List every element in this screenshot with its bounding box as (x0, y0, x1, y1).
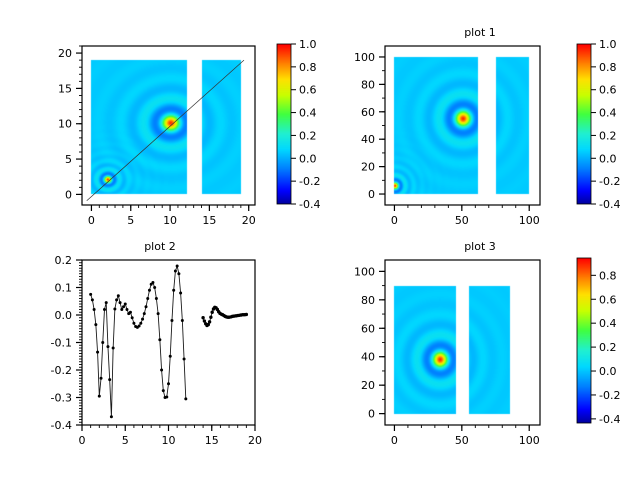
y-tick-label: 40 (361, 133, 375, 146)
data-point (146, 297, 149, 300)
colorbar-tick-label: -0.2 (299, 175, 320, 188)
data-point (96, 351, 99, 354)
data-point (124, 303, 127, 306)
y-tick-label: 0 (368, 408, 375, 421)
y-tick-label: 5 (65, 153, 72, 166)
colorbar-gradient (577, 44, 591, 204)
panel-top-right-colorbar: 1.00.80.60.40.20.0-0.2-0.4 (577, 38, 620, 211)
data-point (201, 316, 204, 319)
data-point (183, 358, 186, 361)
data-point (122, 305, 125, 308)
y-tick-label: 20 (361, 379, 375, 392)
x-tick-label: 50 (455, 214, 469, 227)
data-point (106, 345, 109, 348)
x-tick-label: 0 (88, 214, 95, 227)
panel-top-left: 0510152005101520 1.00.80.60.40.20.0-0.2-… (0, 0, 320, 240)
data-point (115, 298, 118, 301)
data-point (177, 272, 180, 275)
data-point (100, 377, 103, 380)
panel-top-left-heatmap (82, 46, 255, 205)
y-tick-label: 0 (65, 188, 72, 201)
colorbar-tick-label: 0.2 (599, 129, 617, 142)
panel-bottom-left-svg: 051015200.20.10.0-0.1-0.2-0.3-0.4 (0, 240, 320, 480)
colorbar-tick-label: 0.4 (599, 317, 617, 330)
colorbar-tick-label: 0.4 (599, 107, 617, 120)
data-point (125, 308, 128, 311)
colorbar-tick-label: -0.4 (599, 198, 620, 211)
data-point (145, 305, 148, 308)
colorbar-tick-label: -0.4 (599, 413, 620, 426)
x-tick-label: 10 (163, 214, 177, 227)
colorbar-tick-label: 0.8 (299, 61, 317, 74)
y-tick-label: 20 (361, 161, 375, 174)
data-point (167, 382, 170, 385)
x-tick-label: 10 (162, 434, 176, 447)
y-tick-label: 10 (58, 118, 72, 131)
colorbar-tick-label: 1.0 (299, 38, 317, 51)
colorbar-gradient (577, 258, 591, 423)
panel-bottom-left-title: plot 2 (0, 240, 320, 253)
x-tick-label: 100 (519, 434, 540, 447)
data-point (162, 389, 165, 392)
y-tick-label: 15 (58, 82, 72, 95)
panel-bottom-right-title: plot 3 (320, 240, 640, 253)
x-tick-label: 5 (127, 214, 134, 227)
x-tick-label: 5 (122, 434, 129, 447)
panel-top-left-colorbar: 1.00.80.60.40.20.0-0.2-0.4 (277, 38, 320, 211)
x-tick-label: 50 (455, 434, 469, 447)
x-tick-label: 20 (242, 214, 256, 227)
figure-canvas: 0510152005101520 1.00.80.60.40.20.0-0.2-… (0, 0, 640, 480)
colorbar-tick-label: 0.0 (299, 152, 317, 165)
y-tick-label: -0.2 (51, 364, 72, 377)
data-point (151, 281, 154, 284)
colorbar-tick-label: 0.4 (299, 107, 317, 120)
data-point (157, 312, 160, 315)
x-tick-label: 15 (202, 214, 216, 227)
y-tick-label: 20 (58, 47, 72, 60)
colorbar-tick-label: 0.2 (599, 341, 617, 354)
colorbar-tick-label: -0.2 (599, 389, 620, 402)
line-series (91, 266, 186, 417)
data-point (208, 320, 211, 323)
y-tick-label: 80 (361, 294, 375, 307)
data-point (110, 415, 113, 418)
x-tick-label: 0 (391, 214, 398, 227)
panel-bottom-left-series (89, 265, 248, 419)
colorbar-tick-label: 0.6 (299, 84, 317, 97)
data-point (165, 395, 168, 398)
data-point (181, 319, 184, 322)
heatmap-image (82, 46, 255, 205)
heatmap-image (385, 260, 540, 425)
y-tick-label: 100 (354, 51, 375, 64)
data-point (160, 369, 163, 372)
data-point (158, 338, 161, 341)
y-tick-label: 60 (361, 322, 375, 335)
y-tick-label: 0.2 (55, 254, 73, 267)
y-tick-label: 0.1 (55, 282, 73, 295)
data-point (179, 292, 182, 295)
y-tick-label: 80 (361, 78, 375, 91)
data-point (184, 397, 187, 400)
data-point (113, 307, 116, 310)
x-tick-label: 0 (391, 434, 398, 447)
heatmap-image (385, 46, 540, 205)
x-tick-label: 20 (248, 434, 262, 447)
data-point (108, 378, 111, 381)
data-point (120, 308, 123, 311)
data-point (132, 322, 135, 325)
y-tick-label: -0.1 (51, 337, 72, 350)
data-point (91, 298, 94, 301)
panel-top-right: plot 1 050100020406080100 1.00.80.60.40.… (320, 0, 640, 240)
data-point (129, 311, 132, 314)
panel-bottom-right-svg: 050100020406080100 0.80.60.40.20.0-0.2-0… (320, 240, 640, 480)
y-tick-label: 60 (361, 106, 375, 119)
data-point (169, 355, 172, 358)
panel-top-left-svg: 0510152005101520 1.00.80.60.40.20.0-0.2-… (0, 0, 320, 240)
data-point (155, 297, 158, 300)
data-point (138, 325, 141, 328)
colorbar-tick-label: 0.6 (599, 293, 617, 306)
x-tick-label: 0 (79, 434, 86, 447)
data-point (131, 316, 134, 319)
data-point (119, 301, 122, 304)
colorbar-tick-label: -0.2 (599, 175, 620, 188)
data-point (139, 322, 142, 325)
data-point (105, 301, 108, 304)
data-point (141, 318, 144, 321)
panel-bottom-left: plot 2 051015200.20.10.0-0.1-0.2-0.3-0.4 (0, 240, 320, 480)
data-point (112, 347, 115, 350)
colorbar-tick-label: 0.8 (599, 269, 617, 282)
data-point (176, 265, 179, 268)
data-point (170, 319, 173, 322)
colorbar-tick-label: 1.0 (599, 38, 617, 51)
data-point (209, 316, 212, 319)
panel-bottom-right-heatmap (385, 260, 540, 425)
panel-bottom-right-colorbar: 0.80.60.40.20.0-0.2-0.4 (577, 258, 620, 426)
y-tick-label: -0.3 (51, 392, 72, 405)
data-point (172, 289, 175, 292)
data-point (89, 293, 92, 296)
colorbar-tick-label: 0.8 (599, 61, 617, 74)
colorbar-tick-label: 0.6 (599, 84, 617, 97)
data-point (210, 311, 213, 314)
data-point (148, 289, 151, 292)
panel-top-right-heatmap (385, 46, 540, 205)
data-point (101, 341, 104, 344)
data-point (153, 286, 156, 289)
data-point (98, 395, 101, 398)
y-tick-label: -0.4 (51, 419, 72, 432)
data-point (94, 323, 97, 326)
data-point (103, 308, 106, 311)
colorbar-tick-label: 0.2 (299, 129, 317, 142)
x-tick-label: 100 (519, 214, 540, 227)
data-point (143, 312, 146, 315)
panel-bottom-right: plot 3 050100020406080100 0.80.60.40.20.… (320, 240, 640, 480)
panel-top-right-title: plot 1 (320, 26, 640, 39)
x-tick-label: 15 (205, 434, 219, 447)
data-point (245, 313, 248, 316)
data-point (93, 308, 96, 311)
colorbar-tick-label: -0.4 (299, 198, 320, 211)
data-point (174, 270, 177, 273)
y-tick-label: 0.0 (55, 309, 73, 322)
colorbar-tick-label: 0.0 (599, 152, 617, 165)
y-tick-label: 0 (368, 188, 375, 201)
y-tick-label: 40 (361, 351, 375, 364)
colorbar-gradient (277, 44, 291, 204)
colorbar-tick-label: 0.0 (599, 365, 617, 378)
data-point (117, 294, 120, 297)
y-tick-label: 100 (354, 265, 375, 278)
